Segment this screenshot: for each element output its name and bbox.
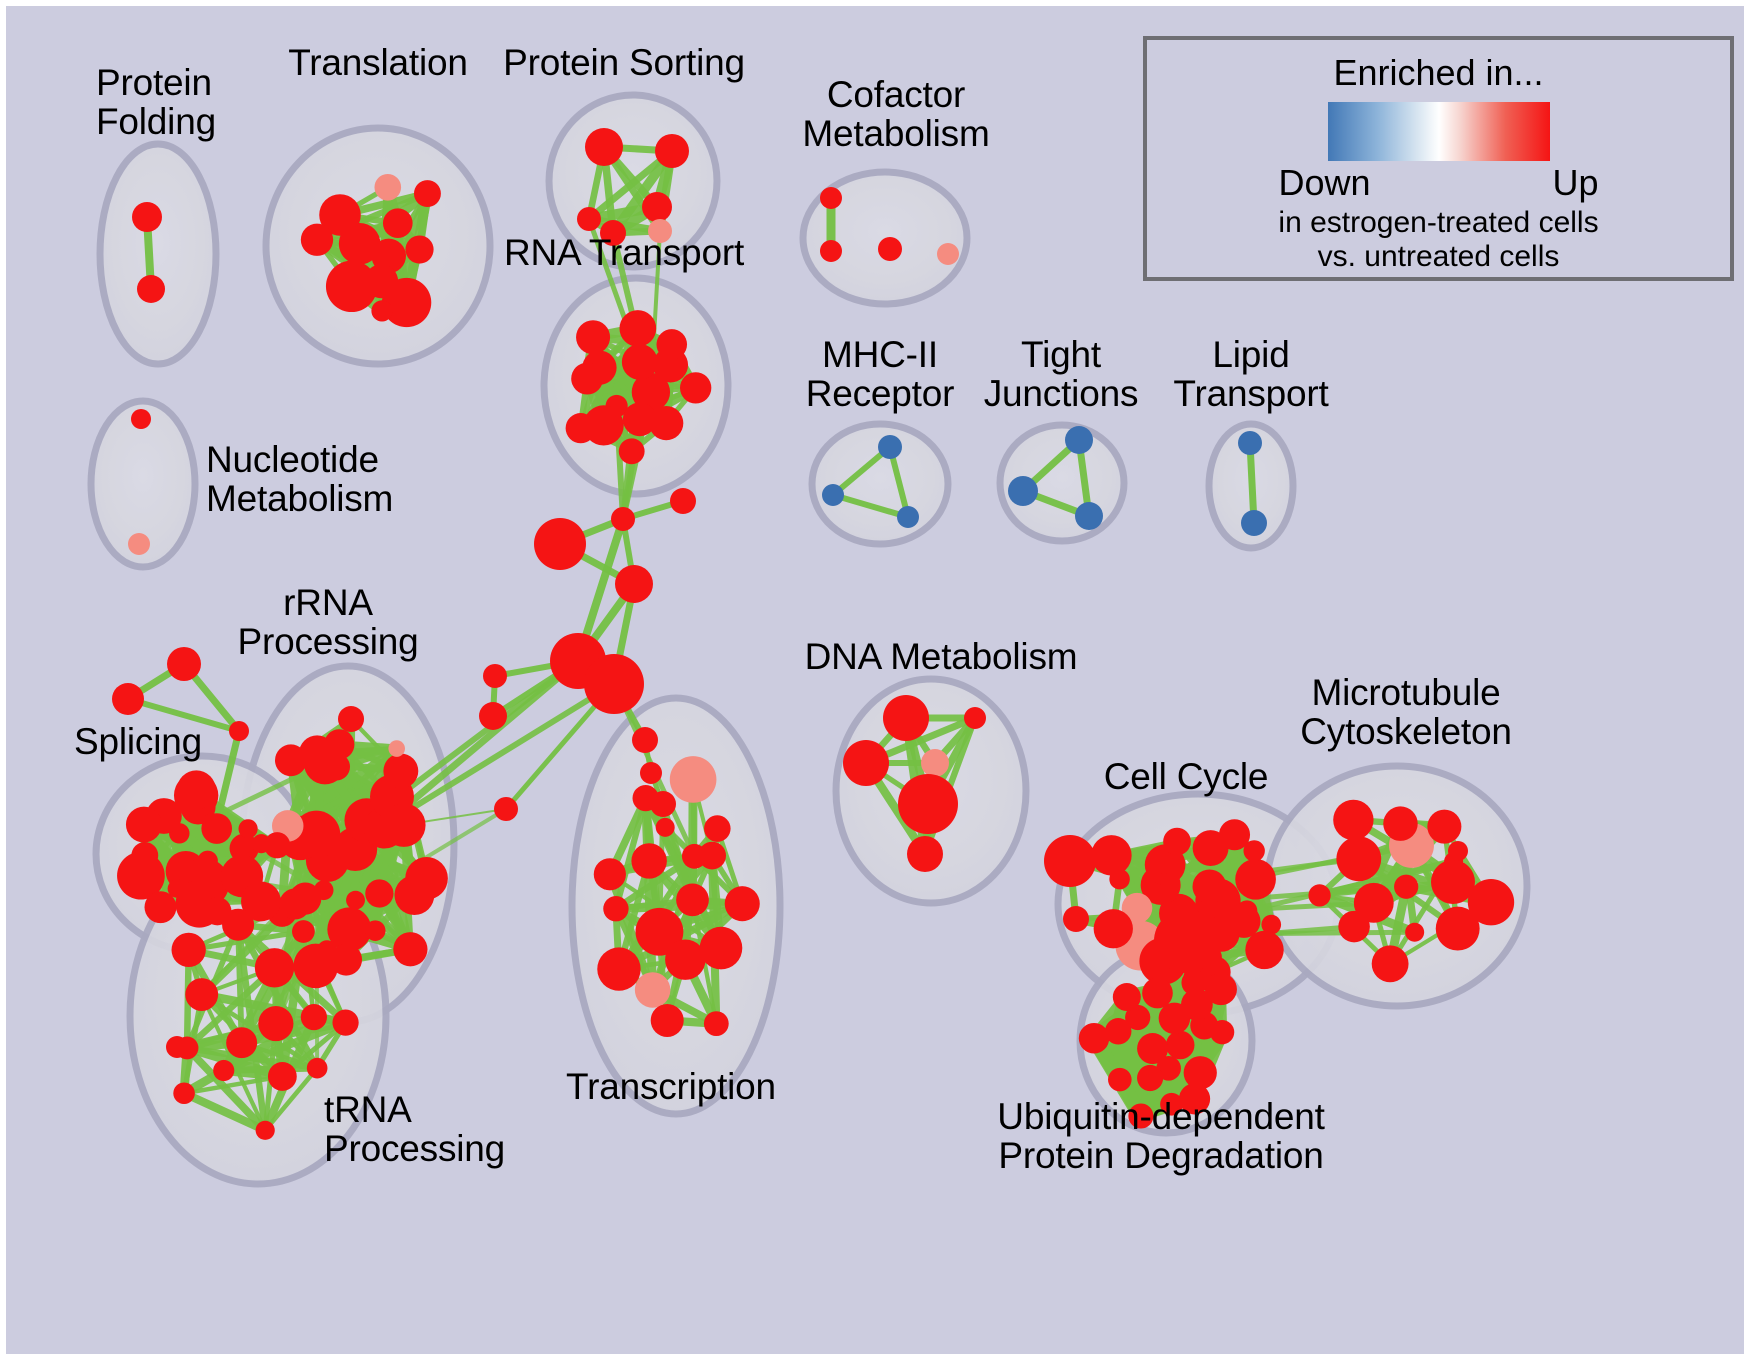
legend-color-gradient-bar <box>1328 102 1550 161</box>
network-node <box>405 235 433 263</box>
legend-caption: in estrogen-treated cells vs. untreated … <box>1278 206 1598 273</box>
network-node <box>1431 860 1475 904</box>
network-node <box>388 740 405 757</box>
network-node <box>631 843 666 878</box>
network-node <box>279 888 310 919</box>
network-node <box>898 774 958 834</box>
network-node <box>229 721 249 741</box>
network-node <box>256 1121 275 1140</box>
network-node <box>1205 973 1237 1005</box>
network-node <box>1372 945 1409 982</box>
network-node <box>1137 1065 1163 1091</box>
network-node <box>680 372 711 403</box>
legend-caption-line2: vs. untreated cells <box>1278 240 1598 274</box>
network-node <box>382 803 425 846</box>
network-node <box>128 533 150 555</box>
network-node <box>383 208 413 238</box>
network-node <box>907 836 943 872</box>
network-node <box>258 1006 293 1041</box>
network-node <box>878 435 902 459</box>
network-node <box>1383 806 1417 840</box>
network-node <box>600 220 626 246</box>
network-node <box>1142 978 1173 1009</box>
network-node <box>1163 828 1191 856</box>
network-node <box>656 818 675 837</box>
network-node <box>1108 1068 1132 1092</box>
network-node <box>820 187 842 209</box>
network-node <box>1210 1020 1234 1044</box>
network-node <box>937 243 959 265</box>
network-node <box>665 939 705 979</box>
network-node <box>494 797 518 821</box>
network-node <box>365 920 386 941</box>
network-node <box>383 754 418 789</box>
network-node <box>603 896 628 921</box>
network-node <box>294 944 339 989</box>
network-node <box>301 224 333 256</box>
network-node <box>1154 909 1218 973</box>
network-node <box>1308 884 1330 906</box>
network-node <box>640 762 662 784</box>
network-node <box>483 664 507 688</box>
network-node <box>619 438 645 464</box>
legend-title: Enriched in... <box>1333 52 1543 94</box>
network-node <box>414 180 441 207</box>
network-node <box>374 174 401 201</box>
network-node <box>655 134 689 168</box>
network-node <box>704 1011 729 1036</box>
network-node <box>371 300 392 321</box>
network-node <box>185 978 218 1011</box>
network-node <box>292 920 315 943</box>
network-node <box>172 933 206 967</box>
network-node <box>1008 476 1038 506</box>
network-node <box>1181 970 1207 996</box>
network-node <box>700 927 743 970</box>
network-node <box>571 363 603 395</box>
network-node <box>326 261 377 312</box>
network-node <box>597 947 640 990</box>
network-node <box>264 832 290 858</box>
network-node <box>594 858 626 890</box>
network-node <box>307 1058 328 1079</box>
network-node <box>1448 841 1468 861</box>
network-node <box>405 857 448 900</box>
network-node <box>1219 819 1250 850</box>
network-node <box>635 972 671 1008</box>
network-node <box>132 202 162 232</box>
network-node <box>1075 502 1103 530</box>
network-node <box>698 842 726 870</box>
network-node <box>725 886 760 921</box>
network-node <box>1336 836 1381 881</box>
network-node <box>346 891 365 910</box>
network-node <box>1405 923 1424 942</box>
network-node <box>1091 835 1132 876</box>
network-node <box>964 707 986 729</box>
network-node <box>576 320 610 354</box>
network-node <box>301 1004 327 1030</box>
network-node <box>268 1062 297 1091</box>
network-node <box>585 128 623 166</box>
network-node <box>177 770 216 809</box>
network-node <box>883 695 929 741</box>
network-node <box>255 948 294 987</box>
cluster-blob-protein-folding <box>100 144 216 364</box>
network-node <box>365 879 393 907</box>
network-node <box>656 329 687 360</box>
network-node <box>393 932 427 966</box>
network-node <box>1063 906 1089 932</box>
network-node <box>332 1009 358 1035</box>
network-node <box>1227 905 1260 938</box>
network-node <box>1333 800 1373 840</box>
network-node <box>1238 431 1262 455</box>
network-node <box>382 278 431 327</box>
network-node <box>632 727 658 753</box>
network-node <box>213 1060 234 1081</box>
network-node <box>137 275 165 303</box>
network-node <box>1079 1023 1109 1053</box>
legend-caption-line1: in estrogen-treated cells <box>1278 206 1598 240</box>
network-node <box>479 702 507 730</box>
network-node <box>238 819 257 838</box>
network-node <box>577 207 601 231</box>
network-node <box>1179 1083 1210 1114</box>
network-node <box>144 891 176 923</box>
network-node <box>1394 875 1418 899</box>
network-node <box>131 409 151 429</box>
legend-down-label: Down <box>1279 162 1371 204</box>
network-node <box>1468 879 1514 925</box>
network-node <box>651 1004 684 1037</box>
network-node <box>642 192 672 222</box>
network-node <box>1166 1031 1195 1060</box>
network-node <box>650 791 676 817</box>
legend-box: Enriched in... Down Up in estrogen-treat… <box>1143 36 1734 281</box>
network-node <box>534 518 586 570</box>
network-node <box>1153 851 1175 873</box>
network-node <box>1235 859 1276 900</box>
network-node <box>820 240 842 262</box>
network-node <box>1241 510 1267 536</box>
network-node <box>1193 869 1227 903</box>
network-node <box>1065 426 1093 454</box>
network-node <box>1094 909 1133 948</box>
network-node <box>648 219 672 243</box>
legend-end-labels: Down Up <box>1279 162 1599 204</box>
network-node <box>1338 911 1370 943</box>
network-node <box>275 744 307 776</box>
network-node <box>670 488 696 514</box>
network-node <box>1427 810 1461 844</box>
network-node <box>584 654 644 714</box>
network-node <box>649 406 683 440</box>
network-node <box>670 756 717 803</box>
network-node <box>566 413 596 443</box>
network-node <box>112 683 144 715</box>
network-node <box>173 1082 195 1104</box>
network-node <box>615 565 653 603</box>
legend-up-label: Up <box>1552 162 1598 204</box>
enrichment-map-figure: Protein FoldingTranslationProtein Sortin… <box>0 0 1750 1360</box>
network-node <box>1113 983 1141 1011</box>
network-node <box>338 706 364 732</box>
network-node <box>822 484 844 506</box>
network-node <box>126 807 162 843</box>
network-node <box>619 310 656 347</box>
network-node <box>843 740 889 786</box>
network-node <box>921 749 949 777</box>
network-node <box>676 884 709 917</box>
network-node <box>611 507 635 531</box>
network-node <box>1245 931 1283 969</box>
network-node <box>1128 1103 1153 1128</box>
network-node <box>622 344 658 380</box>
network-node <box>166 1036 188 1058</box>
network-node <box>704 815 731 842</box>
network-node <box>897 506 919 528</box>
network-node <box>222 909 254 941</box>
network-node <box>167 647 201 681</box>
network-node <box>226 1027 257 1058</box>
network-node <box>878 237 902 261</box>
network-node <box>1044 835 1096 887</box>
